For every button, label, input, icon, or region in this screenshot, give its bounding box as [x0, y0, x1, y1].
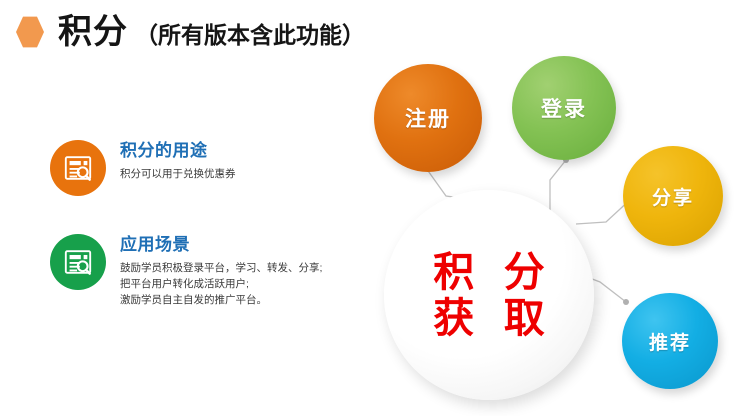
feature-heading: 积分的用途 — [120, 141, 236, 161]
hexagon-icon — [16, 16, 44, 48]
page-title-sub: （所有版本含此功能） — [135, 24, 365, 47]
feature-text-block: 应用场景 鼓励学员积极登录平台，学习、转发、分享; 把平台用户转化成活跃用户; … — [120, 234, 322, 308]
feature-description-line: 积分可以用于兑换优惠券 — [120, 166, 236, 182]
diagram-node-label: 登录 — [541, 93, 587, 123]
page-title: 积分 （所有版本含此功能） — [16, 8, 365, 56]
diagram-node-login[interactable]: 登录 — [512, 56, 616, 160]
diagram-node-share[interactable]: 分享 — [623, 146, 723, 246]
feature-icon-badge-orange — [50, 140, 106, 196]
points-acquisition-diagram: 积 分 获 取 注册 登录 分享 推荐 — [360, 50, 750, 416]
feature-description-line: 把平台用户转化成活跃用户; — [120, 276, 322, 292]
page-title-main: 积分 — [58, 15, 128, 49]
diagram-node-label: 注册 — [405, 103, 451, 133]
diagram-node-label: 推荐 — [649, 328, 691, 355]
diagram-node-register[interactable]: 注册 — [374, 64, 482, 172]
document-search-icon — [63, 247, 93, 277]
document-search-icon — [63, 153, 93, 183]
feature-item-use-cases: 应用场景 鼓励学员积极登录平台，学习、转发、分享; 把平台用户转化成活跃用户; … — [50, 234, 322, 308]
feature-heading: 应用场景 — [120, 235, 322, 255]
diagram-node-label: 分享 — [652, 183, 694, 210]
feature-item-points-usage: 积分的用途 积分可以用于兑换优惠券 — [50, 140, 236, 196]
center-label-line-1: 积 分 — [424, 250, 553, 294]
feature-icon-badge-green — [50, 234, 106, 290]
center-label-line-2: 获 取 — [424, 296, 553, 340]
feature-text-block: 积分的用途 积分可以用于兑换优惠券 — [120, 140, 236, 182]
diagram-center-node[interactable]: 积 分 获 取 — [384, 190, 594, 400]
diagram-node-recommend[interactable]: 推荐 — [622, 293, 718, 389]
feature-description-line: 激励学员自主自发的推广平台。 — [120, 292, 322, 308]
feature-description-line: 鼓励学员积极登录平台，学习、转发、分享; — [120, 260, 322, 276]
